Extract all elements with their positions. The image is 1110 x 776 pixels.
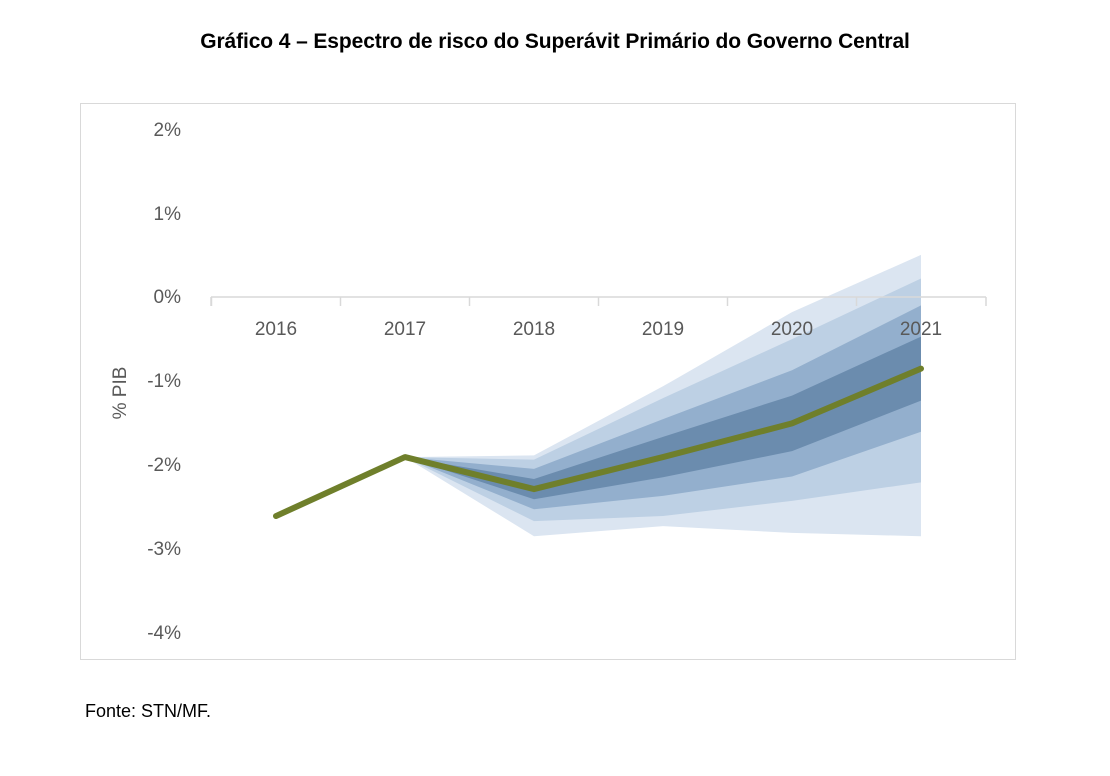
y-axis-title: % PIB [110,348,132,438]
chart-container: 2% 1% 0% -1% -2% -3% -4% % PIB 2016 2017… [80,103,1016,660]
xtick-label-2019: 2019 [603,319,723,341]
ytick-label-neg4: -4% [111,623,181,645]
fan-chart-plot [81,104,1015,659]
page-title: Gráfico 4 – Espectro de risco do Superáv… [0,30,1110,54]
xtick-label-2020: 2020 [732,319,852,341]
ytick-label-0: 0% [111,287,181,309]
source-note: Fonte: STN/MF. [85,701,211,722]
xtick-label-2018: 2018 [474,319,594,341]
ytick-label-1: 1% [111,204,181,226]
ytick-label-neg2: -2% [111,455,181,477]
xtick-label-2017: 2017 [345,319,465,341]
ytick-label-neg3: -3% [111,539,181,561]
ytick-label-2: 2% [111,120,181,142]
xtick-label-2016: 2016 [216,319,336,341]
xtick-label-2021: 2021 [861,319,981,341]
